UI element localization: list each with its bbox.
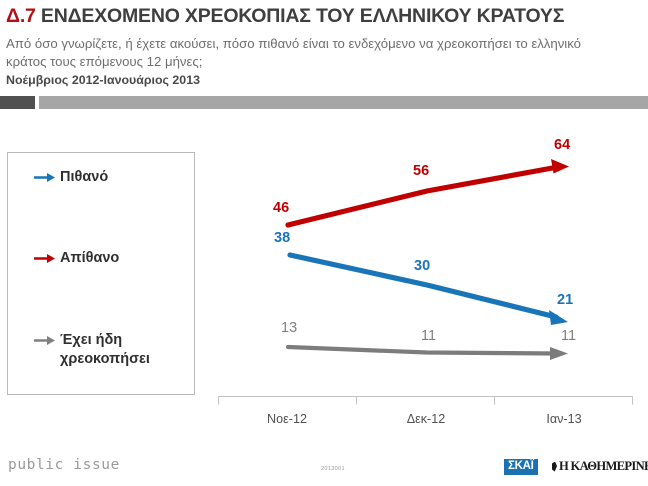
- data-label-pithano-0: 38: [274, 230, 290, 246]
- data-label-apithano-2: 64: [554, 137, 570, 153]
- data-label-idi-2: 11: [561, 328, 576, 344]
- footer-brand-public-issue: public issue: [8, 457, 120, 473]
- legend-label: Απίθανο: [60, 249, 119, 268]
- legend-item-pithano[interactable]: Πιθανό: [34, 168, 108, 189]
- data-label-idi-1: 11: [421, 328, 436, 344]
- logo-kathimerini-text: Η ΚΑΘΗΜΕΡΙΝΗ: [559, 459, 648, 474]
- page-title: Δ.7 ΕΝΔΕΧΟΜΕΝΟ ΧΡΕΟΚΟΠΙΑΣ ΤΟΥ ΕΛΛΗΝΙΚΟΥ …: [6, 5, 564, 28]
- data-label-pithano-2: 21: [557, 292, 573, 308]
- arrow-right-icon: [34, 171, 56, 189]
- footer-survey-code: 2013001: [321, 466, 345, 472]
- kathimerini-mark-icon: [551, 461, 558, 473]
- legend-item-apithano[interactable]: Απίθανο: [34, 249, 119, 270]
- question-subtitle: Από όσο γνωρίζετε, ή έχετε ακούσει, πόσο…: [6, 35, 621, 71]
- logo-kathimerini: Η ΚΑΘΗΜΕΡΙΝΗ: [551, 459, 648, 474]
- title-code: Δ.7: [6, 5, 36, 27]
- data-label-apithano-1: 56: [413, 163, 429, 179]
- x-axis-label-2: Ιαν-13: [504, 412, 624, 426]
- x-axis-label-1: Δεκ-12: [366, 412, 486, 426]
- x-axis: [219, 397, 633, 405]
- header-rule-dark: [0, 96, 35, 109]
- title-text: ΕΝΔΕΧΟΜΕΝΟ ΧΡΕΟΚΟΠΙΑΣ ΤΟΥ ΕΛΛΗΝΙΚΟΥ ΚΡΑΤ…: [41, 5, 564, 27]
- data-label-pithano-1: 30: [414, 258, 430, 274]
- data-label-idi-0: 13: [281, 320, 297, 336]
- arrow-right-icon: [34, 334, 56, 352]
- date-range: Νοέμβριος 2012-Ιανουάριος 2013: [6, 73, 200, 87]
- chart-legend: Πιθανό Απίθανο Έχει ήδη χρεοκοπήσει: [7, 152, 195, 395]
- header-rule-light: [39, 96, 648, 109]
- x-axis-label-0: Νοε-12: [227, 412, 347, 426]
- legend-item-exei-idi-xreokopisei[interactable]: Έχει ήδη χρεοκοπήσει: [34, 331, 150, 369]
- arrow-right-icon: [34, 252, 56, 270]
- data-label-apithano-0: 46: [273, 200, 289, 216]
- legend-label: Πιθανό: [60, 168, 108, 187]
- legend-label: Έχει ήδη χρεοκοπήσει: [60, 331, 150, 369]
- series-line-exei-idi-xreokopisei: [288, 347, 568, 360]
- logo-skai: ΣΚΑΪ: [504, 459, 538, 475]
